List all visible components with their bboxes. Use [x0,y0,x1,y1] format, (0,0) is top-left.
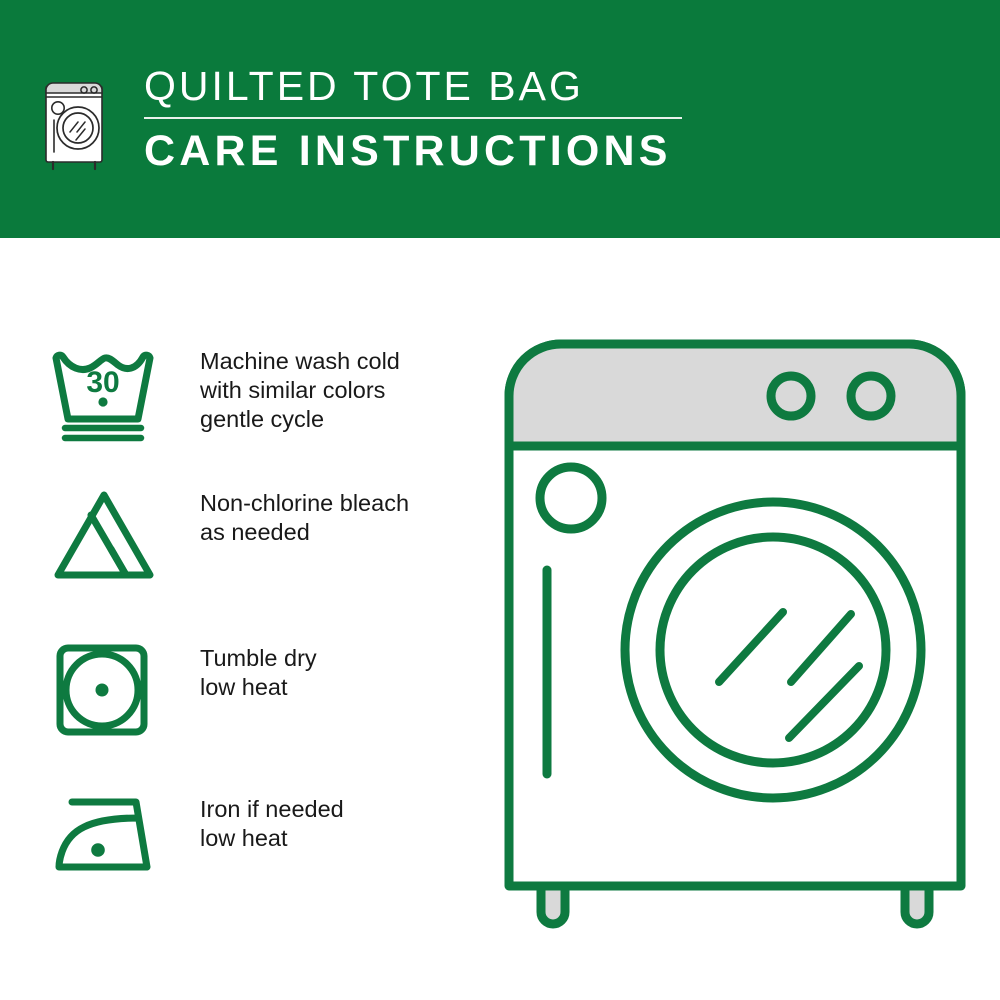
care-instruction-text-wash: Machine wash cold with similar colors ge… [200,345,400,434]
header-content: QUILTED TOTE BAG CARE INSTRUCTIONS [40,62,740,182]
care-instruction-row-iron: Iron if needed low heat [50,793,470,884]
care-instruction-text-iron: Iron if needed low heat [200,793,344,853]
care-instructions-infographic: QUILTED TOTE BAG CARE INSTRUCTIONS 30 [0,0,1000,1000]
care-instruction-row-wash: 30 Machine wash cold with similar colors… [50,345,470,448]
care-instruction-row-bleach: Non-chlorine bleach as needed [50,487,470,588]
washing-machine-icon [40,66,114,174]
care-instruction-row-tumble-dry: Tumble dry low heat [50,642,470,743]
care-text-line: as needed [200,518,409,547]
page-subtitle: CARE INSTRUCTIONS [144,127,744,176]
non-chlorine-bleach-symbol [50,487,158,588]
care-text-line: low heat [200,673,317,702]
care-text-line: gentle cycle [200,405,400,434]
care-text-line: Machine wash cold [200,347,400,376]
leg-right [905,886,929,924]
care-instruction-text-tumble-dry: Tumble dry low heat [200,642,317,702]
care-text-line: Non-chlorine bleach [200,489,409,518]
wash-temperature-label: 30 [86,366,119,399]
iron-low-heat-symbol [50,793,158,884]
leg-left [541,886,565,924]
tumble-dry-low-heat-symbol [50,642,158,743]
care-text-line: Iron if needed [200,795,344,824]
title-divider [144,117,682,119]
header-band: QUILTED TOTE BAG CARE INSTRUCTIONS [0,0,1000,238]
care-text-line: low heat [200,824,344,853]
machine-wash-30-symbol: 30 [50,345,158,448]
header-title-block: QUILTED TOTE BAG CARE INSTRUCTIONS [144,62,744,176]
washing-machine-illustration [495,330,975,930]
care-instruction-list: 30 Machine wash cold with similar colors… [0,238,480,1000]
care-instruction-text-bleach: Non-chlorine bleach as needed [200,487,409,547]
page-title: QUILTED TOTE BAG [144,62,744,110]
care-text-line: Tumble dry [200,644,317,673]
care-text-line: with similar colors [200,376,400,405]
